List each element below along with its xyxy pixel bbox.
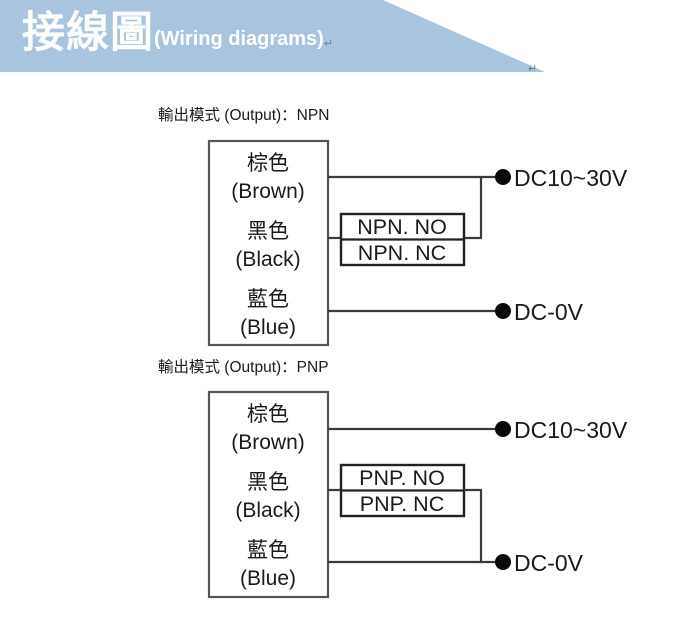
page-title-en: (Wiring diagrams) bbox=[154, 28, 324, 50]
pnp-terminal-dot-gnd bbox=[495, 554, 511, 570]
page-header: 接線圖(Wiring diagrams)↵ ↵ bbox=[0, 0, 692, 92]
npn-load-return-wire bbox=[464, 177, 481, 238]
wiring-diagrams-figure: 輸出模式 (Output)：NPN 棕色 (Brown) 黑色 (Black) … bbox=[0, 92, 692, 617]
npn-wire-1-en: (Brown) bbox=[231, 180, 305, 203]
pnp-terminal-label-gnd: DC-0V bbox=[514, 550, 584, 576]
pnp-load-label-nc: PNP. NC bbox=[360, 492, 444, 516]
npn-terminal-label-gnd: DC-0V bbox=[514, 299, 584, 325]
npn-wire-2-en: (Black) bbox=[235, 248, 300, 271]
npn-load-label-nc: NPN. NC bbox=[358, 241, 446, 265]
pnp-wire-2-cjk: 黑色 bbox=[247, 471, 289, 494]
npn-wire-3-cjk: 藍色 bbox=[247, 288, 289, 311]
npn-wire-2-cjk: 黑色 bbox=[247, 220, 289, 243]
npn-load-label-no: NPN. NO bbox=[357, 215, 447, 239]
npn-wire-3-en: (Blue) bbox=[240, 316, 296, 339]
pnp-load-label-no: PNP. NO bbox=[359, 466, 445, 490]
pnp-load-return-wire bbox=[464, 490, 481, 562]
npn-terminal-dot-vplus bbox=[495, 169, 511, 185]
pnp-terminal-label-vplus: DC10~30V bbox=[514, 417, 628, 443]
pnp-terminal-dot-vplus bbox=[495, 421, 511, 437]
paragraph-mark-icon: ↵ bbox=[324, 38, 333, 50]
diagram-npn: 輸出模式 (Output)：NPN 棕色 (Brown) 黑色 (Black) … bbox=[158, 106, 628, 345]
page-title: 接線圖(Wiring diagrams)↵ bbox=[22, 12, 333, 55]
npn-terminal-label-vplus: DC10~30V bbox=[514, 165, 628, 191]
paragraph-mark-2-icon: ↵ bbox=[528, 62, 537, 75]
npn-terminal-dot-gnd bbox=[495, 303, 511, 319]
diagram-pnp: 輸出模式 (Output)：PNP 棕色 (Brown) 黑色 (Black) … bbox=[158, 358, 628, 597]
pnp-wire-3-cjk: 藍色 bbox=[247, 539, 289, 562]
pnp-wire-2-en: (Black) bbox=[235, 499, 300, 522]
npn-section-label: 輸出模式 (Output)：NPN bbox=[158, 106, 329, 124]
npn-wire-1-cjk: 棕色 bbox=[247, 152, 289, 175]
page-title-cjk: 接線圖 bbox=[22, 9, 154, 57]
pnp-wire-3-en: (Blue) bbox=[240, 567, 296, 590]
pnp-wire-1-cjk: 棕色 bbox=[247, 403, 289, 426]
pnp-wire-1-en: (Brown) bbox=[231, 431, 305, 454]
pnp-section-label: 輸出模式 (Output)：PNP bbox=[158, 358, 329, 376]
